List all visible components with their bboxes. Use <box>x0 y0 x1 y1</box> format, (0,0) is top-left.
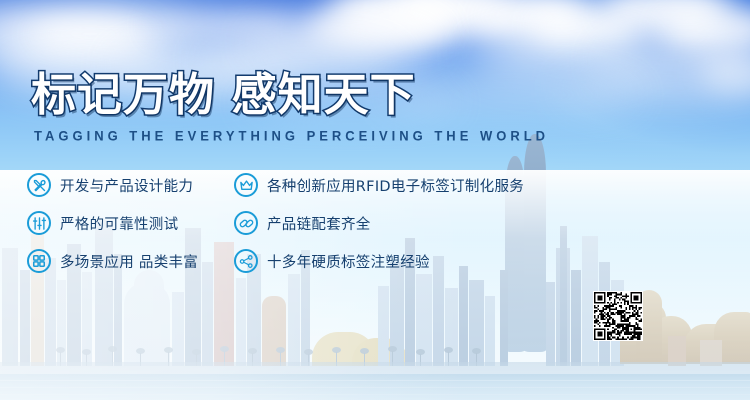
feature-label: 严格的可靠性测试 <box>60 213 178 234</box>
feature-item: 多场景应用 品类丰富 <box>27 242 232 280</box>
promotional-banner: 标记万物 感知天下 TAGGING THE EVERYTHING PERCEIV… <box>0 0 750 400</box>
grid-icon <box>27 249 51 273</box>
crown-icon <box>234 173 258 197</box>
qr-code[interactable] <box>593 291 643 341</box>
feature-label: 各种创新应用RFID电子标签订制化服务 <box>267 175 524 196</box>
tools-icon <box>27 173 51 197</box>
sliders-icon <box>27 211 51 235</box>
feature-column-left: 开发与产品设计能力 严格的可靠性测试 <box>27 166 232 280</box>
sea-water <box>0 374 750 400</box>
feature-label: 十多年硬质标签注塑经验 <box>267 251 430 272</box>
feature-item: 各种创新应用RFID电子标签订制化服务 <box>234 166 554 204</box>
share-icon <box>234 249 258 273</box>
feature-item: 开发与产品设计能力 <box>27 166 232 204</box>
feature-item: 产品链配套齐全 <box>234 204 554 242</box>
feature-item: 严格的可靠性测试 <box>27 204 232 242</box>
feature-label: 产品链配套齐全 <box>267 213 371 234</box>
feature-label: 多场景应用 品类丰富 <box>60 251 198 272</box>
headline: 标记万物 感知天下 <box>31 72 416 117</box>
feature-item: 十多年硬质标签注塑经验 <box>234 242 554 280</box>
feature-label: 开发与产品设计能力 <box>60 175 193 196</box>
link-icon <box>234 211 258 235</box>
feature-column-right: 各种创新应用RFID电子标签订制化服务 产品链配套齐全 <box>234 166 554 280</box>
subheadline: TAGGING THE EVERYTHING PERCEIVING THE WO… <box>34 128 549 144</box>
